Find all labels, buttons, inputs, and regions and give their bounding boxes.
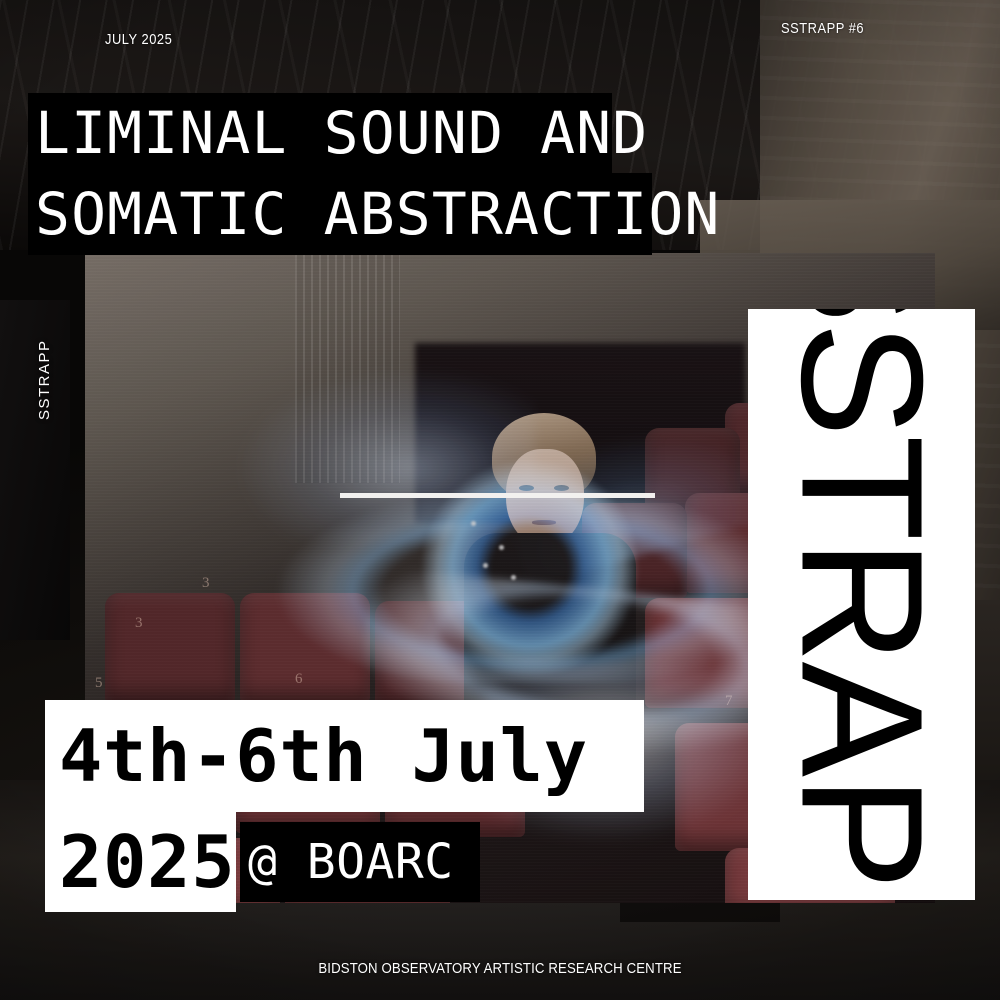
- eye-speck: [511, 575, 516, 580]
- horizontal-rule: [340, 493, 655, 498]
- event-dates-line-2: 2025: [45, 812, 236, 912]
- eye-speck: [471, 521, 476, 526]
- seat-number: 3: [202, 575, 210, 592]
- poster-canvas: 2 3 3 5 6 6 7 6: [0, 0, 1000, 1000]
- header-issue-label: SSTRAPP #6: [781, 20, 864, 37]
- brand-panel: SSTRAPP: [748, 309, 975, 900]
- speaker-stack-left: [0, 300, 70, 640]
- eye-speck: [483, 563, 488, 568]
- event-dates-line-1: 4th-6th July: [45, 700, 644, 812]
- header-date-label: JULY 2025: [105, 31, 172, 48]
- side-brand-label: SSTRAPP: [36, 339, 53, 420]
- poster-title-line-2: SOMATIC ABSTRACTION: [28, 173, 652, 255]
- footer-venue-caption: BIDSTON OBSERVATORY ARTISTIC RESEARCH CE…: [60, 960, 940, 977]
- poster-title-line-1: LIMINAL SOUND AND: [28, 93, 612, 173]
- event-venue-label: @ BOARC: [240, 822, 480, 902]
- seat-number: 5: [95, 675, 103, 692]
- eye-speck: [499, 545, 504, 550]
- seat-number: 3: [135, 615, 143, 632]
- cinema-seat: [105, 593, 235, 703]
- brand-panel-wordmark: SSTRAPP: [775, 309, 948, 900]
